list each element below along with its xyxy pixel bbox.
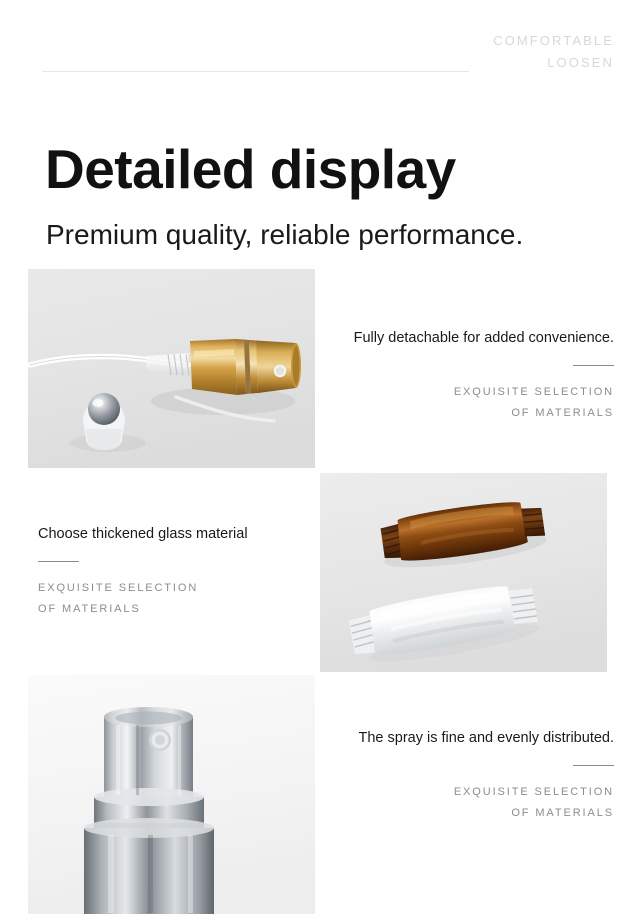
glass-vials-illustration [320, 473, 607, 672]
caption-rule [573, 365, 614, 366]
photo-silver-nozzle [28, 675, 315, 914]
eyebrow-line-2: LOOSEN [493, 52, 614, 74]
gold-spray-pump-illustration [28, 269, 315, 468]
page-subtitle: Premium quality, reliable performance. [46, 218, 523, 252]
kicker-line-2: OF MATERIALS [314, 403, 614, 424]
product-detail-page: COMFORTABLE LOOSEN Detailed display Prem… [0, 0, 640, 914]
page-title: Detailed display [45, 138, 456, 200]
caption-headline: Fully detachable for added convenience. [314, 328, 614, 348]
kicker-line-1: EXQUISITE SELECTION [314, 382, 614, 403]
eyebrow-text: COMFORTABLE LOOSEN [493, 30, 614, 74]
kicker-line-1: EXQUISITE SELECTION [314, 782, 614, 803]
caption-headline: Choose thickened glass material [38, 524, 338, 544]
caption-spray-quality: The spray is fine and evenly distributed… [314, 728, 614, 824]
caption-kicker: EXQUISITE SELECTION OF MATERIALS [38, 578, 338, 620]
caption-headline: The spray is fine and evenly distributed… [314, 728, 614, 748]
caption-kicker: EXQUISITE SELECTION OF MATERIALS [314, 782, 614, 824]
photo-glass-vials [320, 473, 607, 672]
caption-glass-material: Choose thickened glass material EXQUISIT… [38, 524, 338, 620]
caption-detachable: Fully detachable for added convenience. … [314, 328, 614, 424]
caption-rule [573, 765, 614, 766]
header-divider [42, 71, 469, 72]
kicker-line-1: EXQUISITE SELECTION [38, 578, 338, 599]
caption-rule [38, 561, 79, 562]
eyebrow-line-1: COMFORTABLE [493, 30, 614, 52]
photo-gold-spray-pump [28, 269, 315, 468]
caption-kicker: EXQUISITE SELECTION OF MATERIALS [314, 382, 614, 424]
kicker-line-2: OF MATERIALS [38, 599, 338, 620]
kicker-line-2: OF MATERIALS [314, 803, 614, 824]
silver-nozzle-illustration [28, 675, 315, 914]
